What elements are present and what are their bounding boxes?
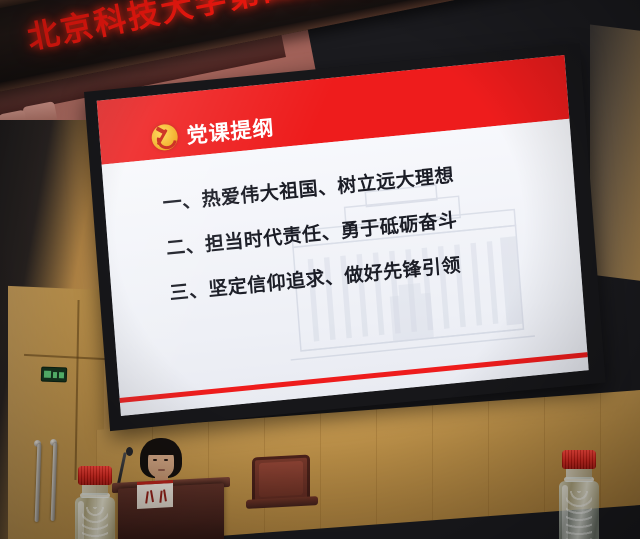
slide-body: 一、热爱伟大祖国、树立远大理想 二、担当时代责任、勇于砥砺奋斗 三、坚定信仰追求… (102, 119, 589, 416)
outline-item: 一、热爱伟大祖国、树立远大理想 (162, 160, 455, 215)
outline-item: 二、担当时代责任、勇于砥砺奋斗 (165, 205, 458, 260)
bottle-cap (562, 450, 596, 469)
exit-sign-icon (41, 367, 68, 383)
chair-backrest (259, 461, 303, 497)
bottle-neck (82, 484, 108, 495)
speaker-mouth (158, 469, 165, 471)
speaker-fringe (144, 440, 178, 455)
hammer-and-sickle-emblem-icon (151, 123, 179, 151)
projection-screen-frame: 党课提纲 (84, 43, 606, 431)
slide-header-content: 党课提纲 (151, 112, 276, 154)
presentation-slide: 党课提纲 (97, 55, 589, 416)
bottle-body (559, 481, 599, 539)
bottle-neck (566, 468, 592, 479)
auditorium-photo-scene: 北京科技大学第四期党员轮训班开班仪 党课提纲 (0, 0, 640, 539)
bottle-cap (78, 466, 112, 485)
microphone-head-icon (126, 447, 133, 456)
speaker-eye (153, 459, 157, 461)
speaker-eye (164, 459, 168, 461)
slide-title: 党课提纲 (185, 112, 275, 151)
name-placard (137, 480, 173, 509)
right-wall (590, 25, 640, 282)
bottle-body (75, 497, 115, 539)
